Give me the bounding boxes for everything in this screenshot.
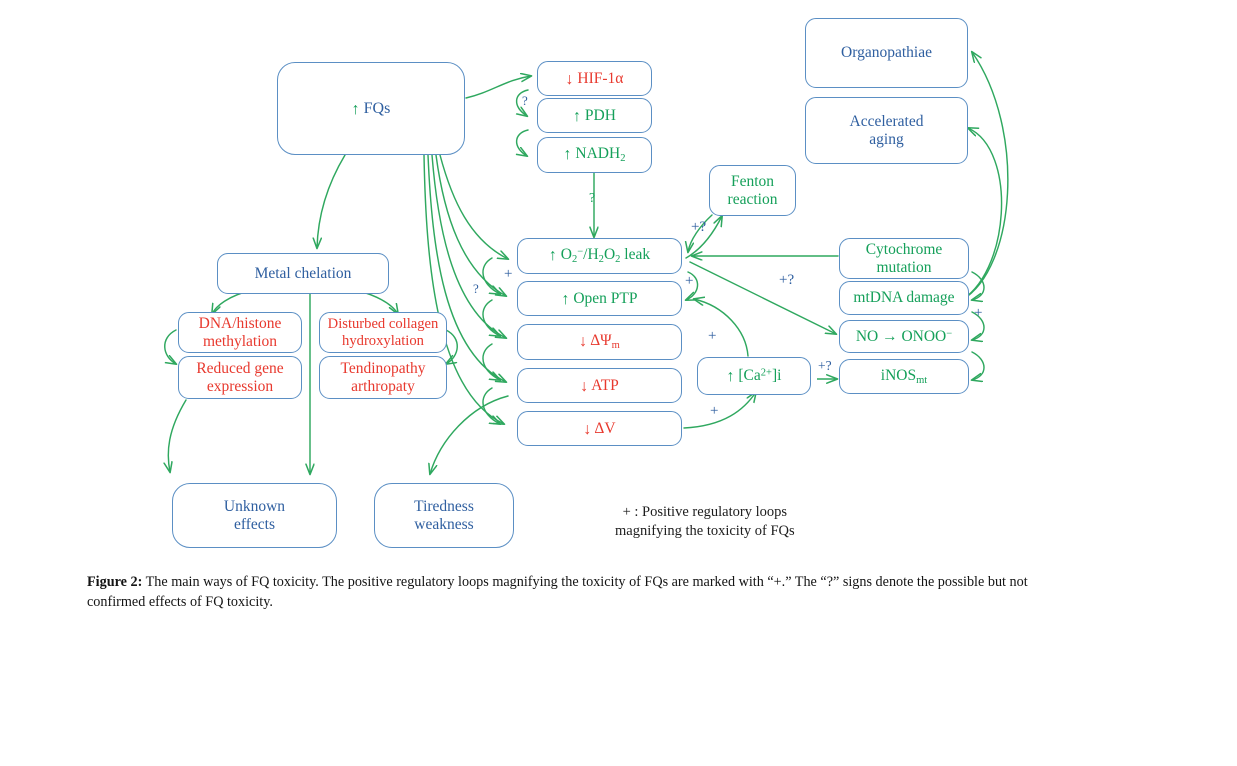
marker-plusq-fenton: +? [691, 219, 706, 236]
up-arrow-icon: ↑ [352, 102, 360, 118]
figure-caption-label: Figure 2: [87, 574, 142, 590]
up-arrow-icon: ↑ [727, 369, 735, 385]
marker-question-hif-pdh: ? [522, 93, 528, 109]
node-dna-histone-methylation-label: DNA/histonemethylation [193, 315, 288, 350]
up-arrow-icon: ↑ [564, 147, 572, 163]
node-o2-h2o2-leak[interactable]: ↑ O2−/H2O2 leak [517, 238, 682, 274]
node-cytochrome-mutation[interactable]: Cytochromemutation [839, 238, 969, 279]
node-tiredness-weakness[interactable]: Tirednessweakness [374, 483, 514, 548]
legend-line-1: + : Positive regulatory loops [615, 503, 795, 522]
down-arrow-icon: ↓ [583, 422, 591, 438]
node-mtdna-damage[interactable]: mtDNA damage [839, 281, 969, 315]
down-arrow-icon: ↓ [579, 334, 587, 350]
node-organopathiae[interactable]: Organopathiae [805, 18, 968, 88]
up-arrow-icon: ↑ [549, 248, 557, 264]
node-fenton-reaction[interactable]: Fentonreaction [709, 165, 796, 216]
node-tiredness-weakness-label: Tirednessweakness [408, 498, 480, 533]
marker-plus-o2leak: + [504, 266, 512, 283]
node-cytochrome-mutation-label: Cytochromemutation [860, 241, 949, 276]
node-metal-chelation[interactable]: Metal chelation [217, 253, 389, 294]
node-nadh2-label: NADH2 [575, 145, 625, 162]
node-dna-histone-methylation[interactable]: DNA/histonemethylation [178, 312, 302, 353]
figure-caption: Figure 2: The main ways of FQ toxicity. … [87, 572, 1087, 612]
node-calcium[interactable]: ↑ [Ca2+]i [697, 357, 811, 395]
node-tendinopathy-arthropaty-label: Tendinopathyarthropaty [334, 360, 431, 395]
node-tendinopathy-arthropaty[interactable]: Tendinopathyarthropaty [319, 356, 447, 399]
marker-plus-dv-calcium: + [710, 403, 718, 420]
node-disturbed-collagen-hydroxylation-label: Disturbed collagenhydroxylation [322, 316, 445, 349]
legend-positive-loops: + : Positive regulatory loops magnifying… [615, 503, 795, 541]
up-arrow-icon: ↑ [573, 109, 581, 125]
figure-caption-text: The main ways of FQ toxicity. The positi… [87, 574, 1028, 610]
marker-question-fq-middle: ? [473, 281, 479, 297]
node-reduced-gene-expression[interactable]: Reduced geneexpression [178, 356, 302, 399]
node-mtdna-damage-label: mtDNA damage [847, 289, 960, 306]
node-membrane-potential[interactable]: ↓ ΔΨm [517, 324, 682, 360]
marker-plus-ptp-loop: + [685, 273, 693, 290]
node-hif1a-label: HIF-1α [577, 70, 623, 87]
down-arrow-icon: ↓ [566, 72, 574, 88]
node-pdh[interactable]: ↑ PDH [537, 98, 652, 133]
node-reduced-gene-expression-label: Reduced geneexpression [190, 360, 289, 395]
node-pdh-label: PDH [585, 107, 616, 124]
node-accelerated-aging-label: Acceleratedaging [844, 113, 930, 148]
marker-question-nadh-o2: ? [589, 191, 595, 207]
figure-2-fq-toxicity: ↑ FQs ↓ HIF-1α ↑ PDH ↑ NADH2 Organopathi… [0, 0, 1237, 766]
marker-plusq-onoo: +? [779, 272, 794, 289]
node-unknown-effects[interactable]: Unknowneffects [172, 483, 337, 548]
node-o2-h2o2-leak-label: O2−/H2O2 leak [561, 246, 650, 263]
node-metal-chelation-label: Metal chelation [249, 265, 358, 282]
node-hif1a[interactable]: ↓ HIF-1α [537, 61, 652, 96]
node-nadh2[interactable]: ↑ NADH2 [537, 137, 652, 173]
legend-line-2: magnifying the toxicity of FQs [615, 522, 795, 541]
node-disturbed-collagen-hydroxylation[interactable]: Disturbed collagenhydroxylation [319, 312, 447, 353]
node-atp-label: ATP [591, 377, 619, 394]
node-delta-v[interactable]: ↓ ΔV [517, 411, 682, 446]
node-open-ptp[interactable]: ↑ Open PTP [517, 281, 682, 316]
node-organopathiae-label: Organopathiae [835, 44, 938, 61]
node-atp[interactable]: ↓ ATP [517, 368, 682, 403]
marker-plus-calcium-ptp: + [708, 328, 716, 345]
node-membrane-potential-label: ΔΨm [590, 332, 620, 349]
inos-to-no-arrow [815, 368, 845, 390]
node-inos-mt[interactable]: iNOSmt [839, 359, 969, 394]
node-inos-mt-label: iNOSmt [875, 367, 933, 387]
down-arrow-icon: ↓ [580, 379, 588, 395]
node-no-onoo[interactable]: NO → ONOO− [839, 320, 969, 353]
node-no-onoo-label: NO → ONOO− [850, 328, 958, 345]
up-arrow-icon: ↑ [561, 292, 569, 308]
marker-plus-right-loop: + [974, 305, 982, 322]
node-accelerated-aging[interactable]: Acceleratedaging [805, 97, 968, 164]
node-delta-v-label: ΔV [594, 420, 615, 437]
node-fqs[interactable]: ↑ FQs [277, 62, 465, 155]
node-open-ptp-label: Open PTP [573, 290, 637, 307]
node-fqs-label: FQs [364, 100, 391, 117]
node-calcium-label: [Ca2+]i [738, 367, 781, 384]
node-fenton-reaction-label: Fentonreaction [722, 173, 784, 208]
node-unknown-effects-label: Unknowneffects [218, 498, 291, 533]
